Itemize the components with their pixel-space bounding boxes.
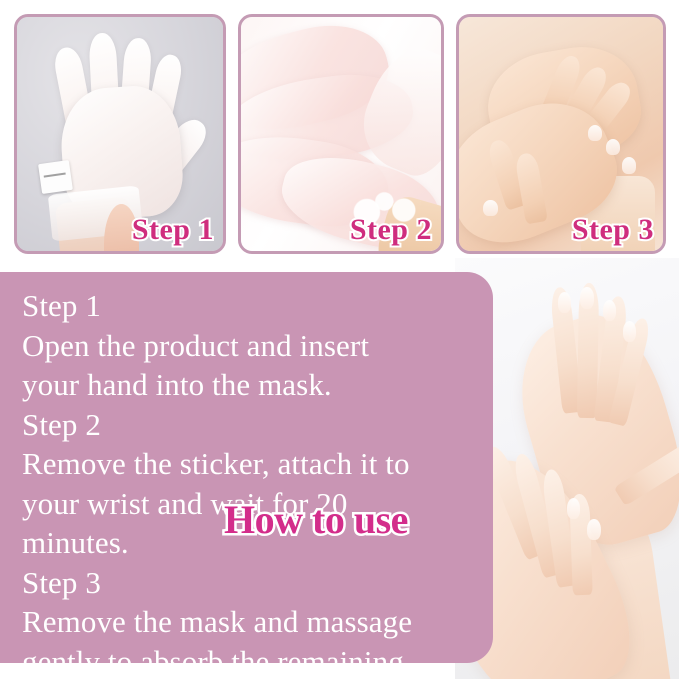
- step-3-tag: Step 3: [572, 213, 654, 247]
- instruction-line: Open the product and insert: [22, 326, 475, 366]
- step-photo-panel-1: Step 1: [14, 14, 226, 254]
- instruction-line: Step 1: [22, 286, 475, 326]
- fingernail: [603, 300, 616, 321]
- how-to-use-heading: How to use: [224, 496, 408, 543]
- instruction-line: Remove the mask and massage: [22, 602, 475, 642]
- fingernail: [558, 292, 571, 313]
- product-sticker: [38, 160, 73, 194]
- instruction-line: Remove the sticker, attach it to: [22, 444, 475, 484]
- fingernail: [580, 287, 593, 308]
- fingernail: [587, 519, 600, 540]
- fingernail: [588, 125, 602, 141]
- step-photo-panel-3: Step 3: [456, 14, 666, 254]
- fingernail: [622, 157, 636, 173]
- fingernail: [606, 139, 620, 155]
- instruction-line: gently to absorb the remaining: [22, 642, 475, 679]
- instructions-panel: Step 1 Open the product and insert your …: [0, 272, 493, 663]
- fingernail: [567, 498, 580, 519]
- fingernail: [623, 321, 636, 342]
- instruction-line: Step 2: [22, 405, 475, 445]
- step-2-tag: Step 2: [350, 213, 432, 247]
- step-1-tag: Step 1: [132, 213, 214, 247]
- instruction-line: your hand into the mask.: [22, 365, 475, 405]
- instruction-line: Step 3: [22, 563, 475, 603]
- step-photo-panel-2: Step 2: [238, 14, 444, 254]
- product-instruction-graphic: Step 1 Step 2: [0, 0, 679, 679]
- fingernail: [483, 200, 497, 216]
